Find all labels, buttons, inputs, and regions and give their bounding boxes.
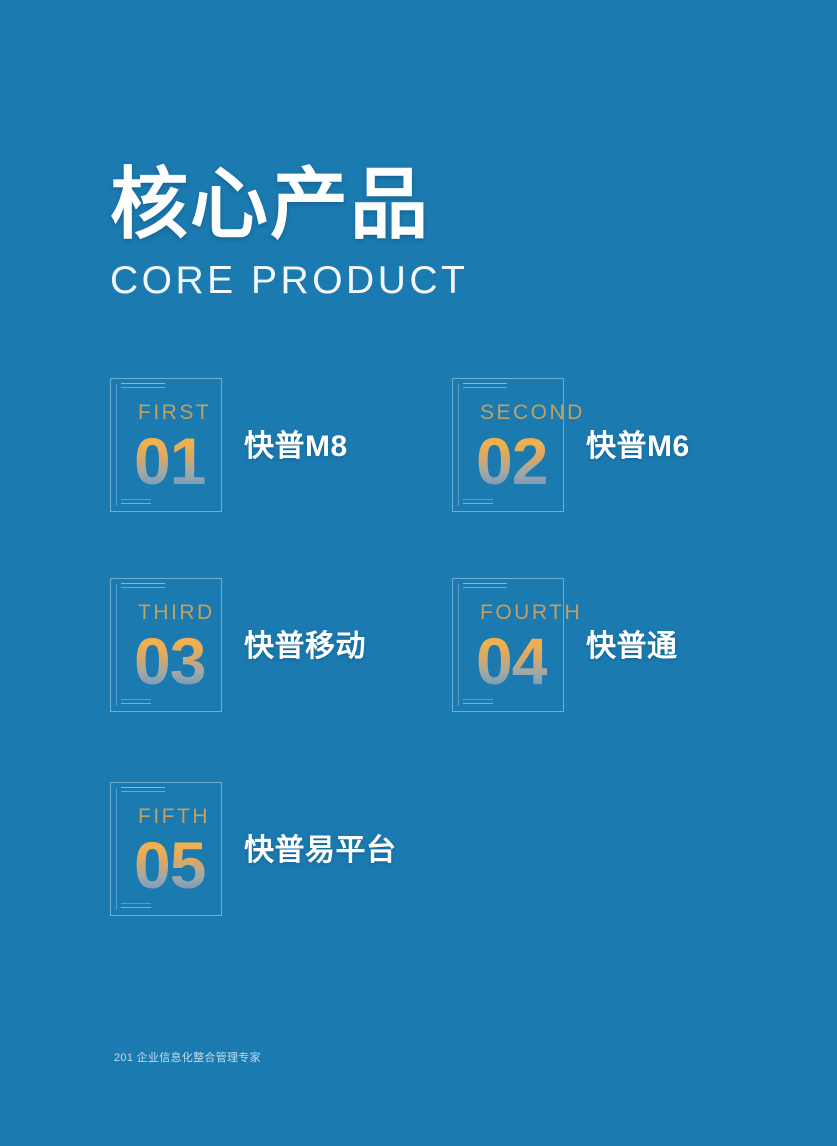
card-product-name: 快普M8	[244, 432, 348, 462]
product-card[interactable]: FOURTH 04 快普通	[452, 578, 772, 718]
product-card[interactable]: FIFTH 05 快普易平台	[110, 782, 430, 922]
frame-tick-icon	[463, 499, 493, 500]
card-ordinal-label: SECOND	[480, 402, 585, 423]
frame-tick-icon	[121, 703, 151, 704]
card-product-name: 快普M6	[586, 432, 690, 462]
frame-tick-icon	[463, 699, 493, 700]
frame-tick-icon	[121, 587, 165, 588]
card-ordinal-label: FOURTH	[480, 602, 582, 623]
frame-tick-icon	[463, 583, 507, 584]
product-card[interactable]: THIRD 03 快普移动	[110, 578, 430, 718]
frame-tick-icon	[121, 787, 165, 788]
frame-tick-icon	[121, 499, 151, 500]
frame-tick-icon	[463, 503, 493, 504]
card-product-name: 快普移动	[244, 632, 366, 662]
frame-tick-icon	[121, 791, 165, 792]
footer-tagline: 201 企业信息化整合管理专家	[114, 1049, 261, 1065]
frame-tick-icon	[121, 907, 151, 908]
card-ordinal-label: FIRST	[138, 402, 211, 423]
frame-tick-icon	[463, 387, 507, 388]
frame-tick-icon	[463, 703, 493, 704]
product-card[interactable]: SECOND 02 快普M6	[452, 378, 772, 518]
frame-tick-icon	[121, 583, 165, 584]
card-product-name: 快普易平台	[244, 836, 397, 866]
frame-tick-icon	[121, 503, 151, 504]
card-number: 05	[134, 832, 205, 898]
frame-tick-icon	[463, 383, 507, 384]
card-number: 01	[134, 428, 205, 494]
frame-tick-icon	[121, 383, 165, 384]
product-card-grid: FIRST 01 快普M8 SECOND 02 快普M6 THIRD 03 快普…	[0, 0, 837, 1146]
card-product-name: 快普通	[586, 632, 678, 662]
frame-tick-icon	[121, 699, 151, 700]
frame-tick-icon	[463, 587, 507, 588]
product-card[interactable]: FIRST 01 快普M8	[110, 378, 430, 518]
frame-tick-icon	[121, 903, 151, 904]
frame-tick-icon	[121, 387, 165, 388]
card-number: 02	[476, 428, 547, 494]
card-ordinal-label: THIRD	[138, 602, 215, 623]
card-number: 03	[134, 628, 205, 694]
card-ordinal-label: FIFTH	[138, 806, 210, 827]
card-number: 04	[476, 628, 547, 694]
